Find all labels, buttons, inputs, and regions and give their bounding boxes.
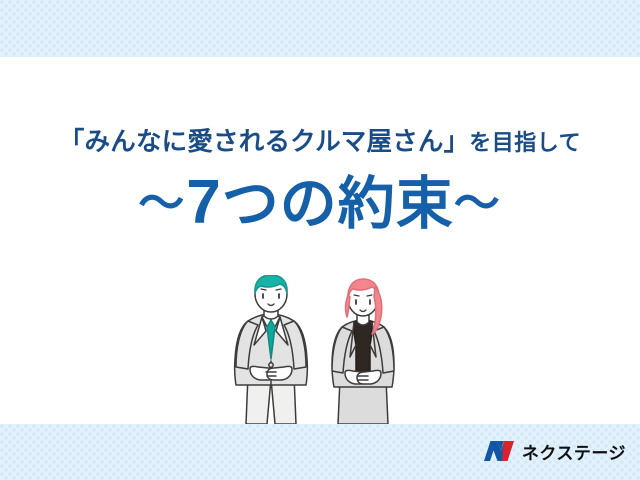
main-heading-wave-right: 〜 (454, 177, 502, 229)
nextage-wordmark: ネクステージ (522, 445, 626, 462)
main-heading-body: つの約束 (222, 172, 454, 236)
headline-tail-part: を目指して (469, 130, 581, 155)
two-bowing-staff-illustration (228, 275, 423, 424)
headline-quote-part: 「みんなに愛されるクルマ屋さん」 (59, 128, 469, 156)
headline: 「みんなに愛されるクルマ屋さん」を目指して (0, 130, 640, 156)
white-content-panel: 「みんなに愛されるクルマ屋さん」を目指して 〜7つの約束〜 (0, 57, 640, 424)
main-heading-number: 7 (186, 168, 221, 237)
nextage-logo: ネクステージ (483, 440, 626, 466)
female-staff-figure (332, 279, 394, 424)
male-staff-figure (235, 275, 308, 424)
main-heading: 〜7つの約束〜 (0, 172, 640, 234)
nextage-n-mark-icon (483, 439, 515, 468)
slide-canvas: 「みんなに愛されるクルマ屋さん」を目指して 〜7つの約束〜 ネクステージ (0, 0, 640, 480)
main-heading-wave-left: 〜 (138, 177, 186, 229)
